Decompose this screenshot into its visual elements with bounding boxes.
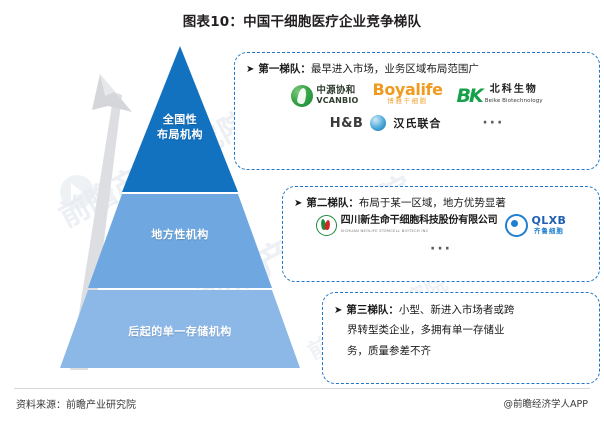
tier-2-description: 布局于某一区域，地方优势显著 [359, 197, 506, 209]
qlxb-mark-icon [505, 214, 528, 237]
pyramid-tier-bottom [60, 290, 300, 368]
vcanbio-cn: 中源协和 [316, 86, 358, 96]
beike-en: Beike Biotechnology [485, 96, 543, 106]
logo-vcanbio: 中源协和 VCANBIO [291, 85, 358, 107]
sichuan-en: SICHUAN NEOLIFE STEMCELL BIOTECH INC [341, 227, 498, 236]
chart-canvas: 图表10：中国干细胞医疗企业竞争梯队 前瞻产业研究院 前瞻产业研究院 前瞻产业研… [0, 0, 604, 423]
hb-mark-icon [370, 115, 386, 131]
tier-2-name: 第二梯队： [306, 197, 359, 209]
vcanbio-mark-icon [291, 85, 313, 107]
tier-2-ellipsis: ··· [430, 241, 452, 257]
tier-2-callout: ➤ 第二梯队：布局于某一区域，地方优势显著 四川新生命干细胞科技股份有限公司 S… [282, 186, 600, 282]
footer-divider [14, 388, 590, 389]
tier-1-ellipsis: ··· [482, 115, 504, 131]
hb-cn: 汉氏联合 [393, 115, 441, 131]
source-label: 资料来源：前瞻产业研究院 [16, 396, 136, 411]
tier-3-callout: ➤ 第三梯队：小型、新进入市场者或跨 界转型类企业，多拥有单一存储业 务，质量参… [322, 292, 600, 384]
tier-2-heading: ➤ 第二梯队：布局于某一区域，地方优势显著 [283, 187, 599, 212]
hb-en: H&B [330, 116, 364, 131]
logo-boyalife: Boyalife 博雅干细胞 [373, 84, 443, 107]
logo-sichuan-neolife: 四川新生命干细胞科技股份有限公司 SICHUAN NEOLIFE STEMCEL… [316, 215, 498, 236]
tier-3-line-3: 务，质量参差不齐 [323, 340, 599, 361]
qlxb-cn: 齐鲁细胞 [531, 226, 566, 236]
sichuan-cn: 四川新生命干细胞科技股份有限公司 [341, 216, 498, 225]
logo-beike: BK 北科生物 Beike Biotechnology [457, 85, 543, 107]
tier-3-description: 小型、新进入市场者或跨 [399, 304, 515, 316]
page-title: 图表10：中国干细胞医疗企业竞争梯队 [0, 10, 604, 30]
arrow-bullet-icon: ➤ [294, 195, 302, 212]
beike-mark-icon: BK [457, 85, 482, 107]
arrow-bullet-icon: ➤ [246, 61, 254, 78]
vcanbio-en: VCANBIO [316, 96, 358, 106]
logo-qlxb: QLXB 齐鲁细胞 [505, 214, 566, 237]
pyramid-tier-top [122, 46, 238, 192]
tier-3-line-2: 界转型类企业，多拥有单一存储业 [323, 319, 599, 340]
pyramid-tier-middle [88, 194, 272, 288]
tier-1-name: 第一梯队： [258, 63, 311, 75]
sichuan-mark-icon [316, 215, 337, 236]
tier-1-logo-row-1: 中源协和 VCANBIO Boyalife 博雅干细胞 BK 北科生物 Beik… [235, 78, 599, 107]
tier-2-logo-row: 四川新生命干细胞科技股份有限公司 SICHUAN NEOLIFE STEMCEL… [283, 212, 599, 237]
tier-1-logo-row-2: H&B 汉氏联合 ··· [235, 107, 599, 131]
tier-1-callout: ➤ 第一梯队：最早进入市场，业务区域布局范围广 中源协和 VCANBIO Boy… [234, 52, 600, 170]
beike-cn: 北科生物 [485, 85, 543, 95]
qlxb-en: QLXB [531, 216, 566, 226]
tier-1-description: 最早进入市场，业务区域布局范围广 [311, 63, 479, 75]
boyalife-en: Boyalife [373, 84, 443, 95]
tier-3-heading: ➤ 第三梯队：小型、新进入市场者或跨 [323, 293, 599, 319]
tier-3-name: 第三梯队： [346, 304, 399, 316]
tier-1-heading: ➤ 第一梯队：最早进入市场，业务区域布局范围广 [235, 53, 599, 78]
arrow-bullet-icon: ➤ [334, 302, 342, 319]
app-label: @前瞻经济学人APP [504, 396, 588, 410]
